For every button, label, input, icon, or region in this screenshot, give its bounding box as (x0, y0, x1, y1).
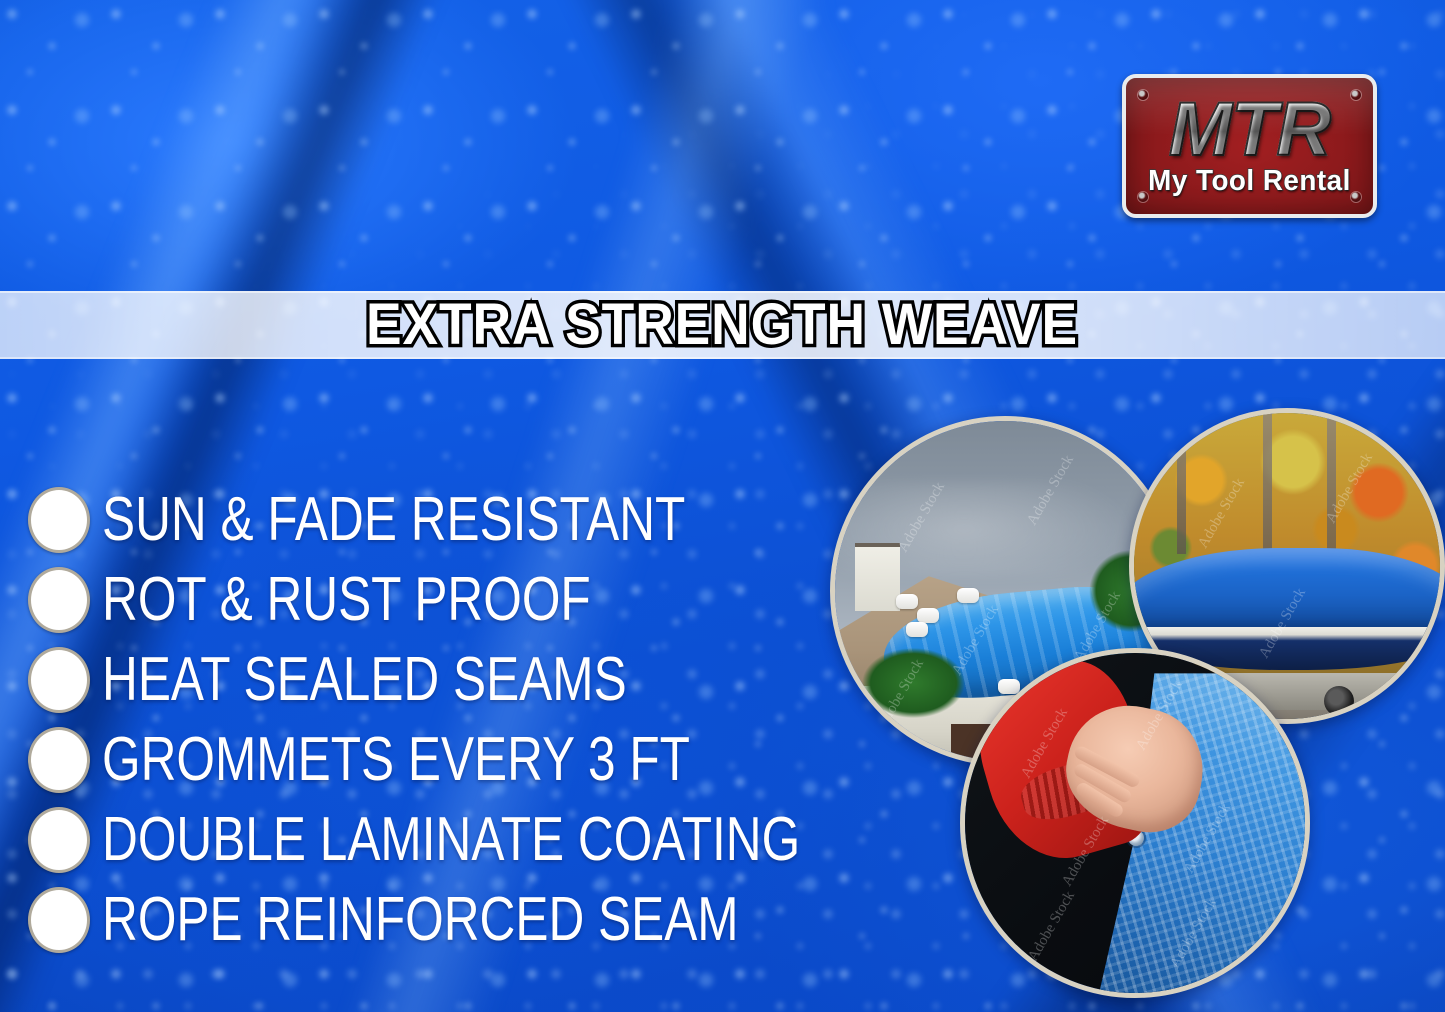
filled-circle-icon (28, 647, 90, 713)
list-item: SUN & FADE RESISTANT (28, 480, 898, 560)
filled-circle-icon (28, 487, 90, 553)
headline-banner: EXTRA STRENGTH WEAVE (0, 291, 1445, 359)
logo-wordmark: MTR (1126, 92, 1373, 168)
tree-trunk (1177, 413, 1186, 554)
list-item: GROMMETS EVERY 3 FT (28, 720, 898, 800)
list-item: HEAT SEALED SEAMS (28, 640, 898, 720)
filled-circle-icon (28, 727, 90, 793)
headline-title: EXTRA STRENGTH WEAVE (366, 296, 1078, 354)
feature-label: SUN & FADE RESISTANT (102, 489, 685, 551)
blue-boat-cover (1129, 548, 1445, 640)
palm-tree-left (842, 625, 985, 741)
sandbag (917, 608, 939, 623)
feature-label: ROPE REINFORCED SEAM (102, 889, 739, 951)
filled-circle-icon (28, 807, 90, 873)
feature-label: ROT & RUST PROOF (102, 569, 591, 631)
chimney (855, 543, 899, 611)
mtr-logo-plate[interactable]: MTR My Tool Rental (1122, 74, 1377, 218)
feature-list: SUN & FADE RESISTANT ROT & RUST PROOF HE… (28, 480, 898, 960)
sandbag (896, 594, 918, 609)
feature-label: GROMMETS EVERY 3 FT (102, 729, 690, 791)
hand-lifting-blue-tarp-grommet-photo: Adobe Stock Adobe Stock Adobe Stock Adob… (960, 648, 1310, 998)
filled-circle-icon (28, 887, 90, 953)
feature-label: DOUBLE LAMINATE COATING (102, 809, 800, 871)
list-item: DOUBLE LAMINATE COATING (28, 800, 898, 880)
logo-tagline: My Tool Rental (1131, 167, 1368, 196)
list-item: ROT & RUST PROOF (28, 560, 898, 640)
sandbag (957, 588, 979, 603)
filled-circle-icon (28, 567, 90, 633)
product-feature-poster: MTR My Tool Rental EXTRA STRENGTH WEAVE … (0, 0, 1445, 1012)
feature-label: HEAT SEALED SEAMS (102, 649, 627, 711)
photo-collage: Adobe Stock Adobe Stock Adobe Stock Adob… (800, 408, 1445, 1012)
list-item: ROPE REINFORCED SEAM (28, 880, 898, 960)
trailer-wheel (1324, 686, 1354, 716)
